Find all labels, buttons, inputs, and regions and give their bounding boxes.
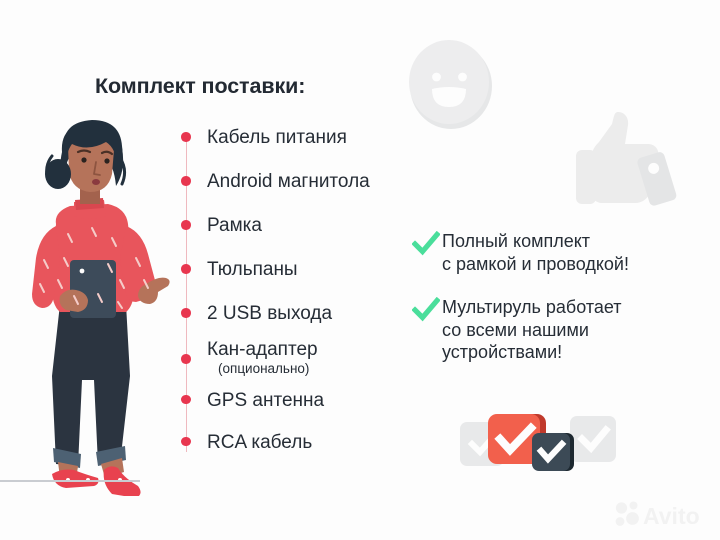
list-item-label: Тюльпаны	[207, 259, 298, 280]
bullet-dot-icon	[181, 354, 191, 364]
list-item: 2 USB выхода	[179, 304, 429, 324]
bullet-dot-icon	[181, 437, 191, 447]
list-item-label: Кан-адаптер	[207, 339, 318, 360]
list-item-label: RCA кабель	[207, 432, 312, 453]
list-item-label: Android магнитола	[207, 171, 370, 192]
smiley-face-icon	[404, 36, 496, 132]
list-item: Android магнитола	[179, 172, 429, 192]
list-item-sublabel: (опционально)	[218, 361, 318, 377]
feature-text: Полный комплект с рамкой и проводкой!	[442, 230, 629, 276]
features-block: Полный комплект с рамкой и проводкой! Му…	[414, 230, 714, 364]
bullet-dot-icon	[181, 308, 191, 318]
list-item: Кан-адаптер (опционально)	[179, 340, 429, 377]
feature-text: Мультируль работает со всеми нашими устр…	[442, 296, 622, 365]
check-mark-icon	[412, 297, 440, 323]
list-item-label: Рамка	[207, 215, 262, 236]
list-item: GPS антенна	[179, 391, 429, 411]
avito-watermark: Avito	[613, 499, 709, 531]
bullet-dot-icon	[181, 395, 191, 405]
bullet-dot-icon	[181, 220, 191, 230]
feature-row: Полный комплект с рамкой и проводкой!	[414, 230, 714, 276]
ground-line	[0, 480, 140, 482]
avito-wordmark: Avito	[643, 503, 700, 529]
feature-row: Мультируль работает со всеми нашими устр…	[414, 296, 714, 365]
bullet-dot-icon	[181, 132, 191, 142]
promo-image-canvas: Комплект поставки: Кабель питания Androi…	[0, 0, 720, 540]
list-item: RCA кабель	[179, 433, 429, 453]
list-item-label: Кабель питания	[207, 127, 347, 148]
person-pointing-illustration	[8, 108, 178, 496]
checkbox-cluster-icon	[458, 408, 618, 490]
thumbs-up-icon	[572, 104, 680, 214]
list-item: Рамка	[179, 216, 429, 236]
check-mark-icon	[412, 231, 440, 257]
list-item: Тюльпаны	[179, 260, 429, 280]
list-item-label: GPS антенна	[207, 390, 324, 411]
page-title: Комплект поставки:	[95, 74, 305, 99]
list-item-label: 2 USB выхода	[207, 303, 332, 324]
bullet-dot-icon	[181, 176, 191, 186]
list-item: Кабель питания	[179, 128, 429, 148]
supply-list: Кабель питания Android магнитола Рамка Т…	[179, 128, 429, 453]
bullet-dot-icon	[181, 264, 191, 274]
